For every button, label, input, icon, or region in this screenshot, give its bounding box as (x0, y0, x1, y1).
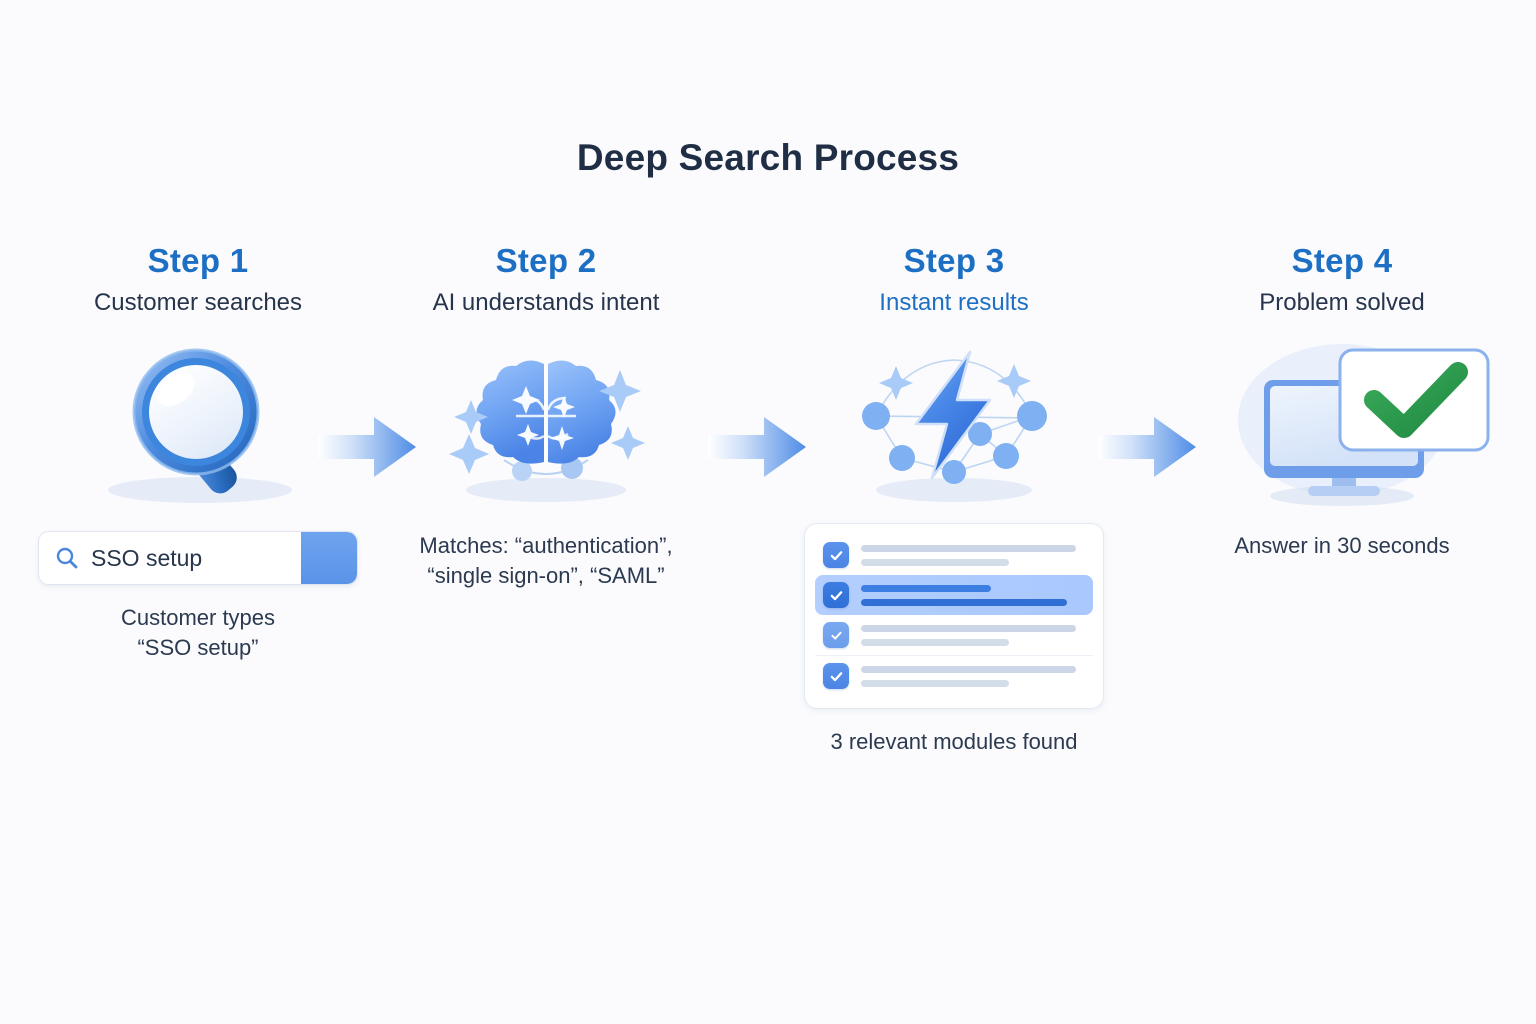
checkbox-checked-icon[interactable] (823, 542, 849, 568)
result-row-2-bars (861, 585, 1085, 606)
checkbox-checked-icon[interactable] (823, 622, 849, 648)
step-subtitle-3: Instant results (784, 290, 1124, 316)
step-subtitle-1: Customer searches (28, 290, 368, 316)
results-card (804, 523, 1104, 709)
step-caption-3-line-1: 3 relevant modules found (784, 727, 1124, 757)
search-icon (55, 546, 79, 570)
step-caption-4: Answer in 30 seconds (1172, 531, 1512, 561)
monitor-check-icon (1172, 338, 1512, 513)
step-card-4: Step 4 Problem solved (1172, 244, 1512, 561)
result-row-2-selected[interactable] (815, 575, 1093, 615)
step-heading-3: Step 3 (784, 244, 1124, 277)
page-title: Deep Search Process (0, 137, 1536, 179)
step-caption-3: 3 relevant modules found (784, 727, 1124, 757)
magnifier-icon (28, 338, 368, 513)
step-illustration-3 (784, 338, 1124, 513)
search-input-box[interactable]: SSO setup (38, 531, 358, 585)
arrow-step1-to-step2 (318, 411, 418, 483)
result-row-1[interactable] (815, 535, 1093, 575)
step-caption-1-line-2: “SSO setup” (28, 633, 368, 663)
result-row-3-bars (861, 625, 1085, 646)
brain-sparkle-icon (376, 338, 716, 513)
result-row-4-bars (861, 666, 1085, 687)
result-row-3[interactable] (815, 615, 1093, 656)
search-submit-button[interactable] (301, 532, 357, 584)
result-row-4[interactable] (815, 656, 1093, 696)
arrow-step2-to-step3 (708, 411, 808, 483)
checkbox-checked-icon[interactable] (823, 582, 849, 608)
step-illustration-2 (376, 338, 716, 513)
step-illustration-1 (28, 338, 368, 513)
step-caption-4-line-1: Answer in 30 seconds (1172, 531, 1512, 561)
step-subtitle-4: Problem solved (1172, 290, 1512, 316)
step-subtitle-2: AI understands intent (376, 290, 716, 316)
arrow-step3-to-step4 (1098, 411, 1198, 483)
step-caption-1: Customer types “SSO setup” (28, 603, 368, 662)
step-card-1: Step 1 Customer searches (28, 244, 368, 663)
step-illustration-4 (1172, 338, 1512, 513)
step-heading-1: Step 1 (28, 244, 368, 277)
step-caption-2: Matches: “authentication”, “single sign-… (376, 531, 716, 590)
step-heading-2: Step 2 (376, 244, 716, 277)
step-caption-2-line-1: Matches: “authentication”, (376, 531, 716, 561)
step-heading-4: Step 4 (1172, 244, 1512, 277)
step-card-3: Step 3 Instant results (784, 244, 1124, 757)
result-row-1-bars (861, 545, 1085, 566)
step-card-2: Step 2 AI understands intent (376, 244, 716, 591)
search-input-value[interactable]: SSO setup (91, 545, 301, 572)
step-caption-2-line-2: “single sign-on”, “SAML” (376, 561, 716, 591)
step-caption-1-line-1: Customer types (28, 603, 368, 633)
lightning-network-icon (784, 338, 1124, 513)
steps-container: Step 1 Customer searches (0, 244, 1536, 804)
checkbox-checked-icon[interactable] (823, 663, 849, 689)
